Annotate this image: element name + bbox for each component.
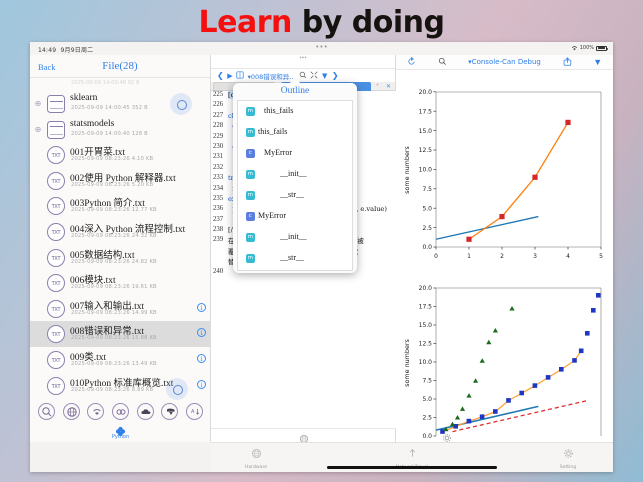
svg-text:20.0: 20.0 [419, 89, 433, 96]
svg-text:3: 3 [533, 253, 537, 260]
files-toolbar[interactable]: A [30, 398, 211, 424]
search-icon[interactable] [438, 53, 447, 71]
svg-text:10.0: 10.0 [419, 359, 433, 366]
cloud-icon[interactable] [137, 403, 154, 420]
txt-file-icon: TXT [47, 172, 65, 190]
outline-item-label: __str__ [280, 253, 304, 262]
home-indicator [327, 466, 497, 469]
txt-file-icon: TXT [47, 274, 65, 292]
txt-file-icon: TXT [47, 300, 65, 318]
svg-text:0: 0 [434, 253, 438, 260]
outline-item-label: __init__ [280, 169, 307, 178]
line-number: 229 [213, 133, 226, 140]
file-info-button[interactable]: i [197, 354, 206, 363]
globe-icon [251, 448, 262, 459]
chart-bottom-svg: 0.02.55.0 7.510.012.5 15.017.520.0 some … [396, 268, 613, 442]
file-row[interactable]: TXT007输入和输出.txt2025-09-09 08:23:26 14.99… [30, 296, 211, 322]
outline-method-icon: m [246, 170, 255, 179]
chart-top-svg: 0.02.55.0 7.510.012.5 15.017.520.0 [396, 70, 613, 268]
outline-item[interactable]: m__init__ [238, 164, 352, 185]
svg-text:5.0: 5.0 [422, 205, 432, 212]
battery-icon [596, 46, 607, 51]
svg-text:7.5: 7.5 [422, 186, 432, 193]
outline-popover[interactable]: Outline mthis_failsmthis_failscMyErrorm_… [233, 83, 357, 273]
svg-text:5: 5 [599, 253, 603, 260]
file-meta: 2025-09-09 08:23:26 15.88 KB [71, 335, 157, 341]
svg-text:12.5: 12.5 [419, 147, 433, 154]
svg-text:2: 2 [500, 253, 504, 260]
file-row[interactable]: ⊕statsmodels2025-09-09 14:00:40 128 B [30, 117, 211, 143]
outline-item-label: __str__ [280, 190, 304, 199]
plots-navbar[interactable]: ▾Console-Can Debug ▼ [396, 55, 613, 70]
svg-text:17.5: 17.5 [419, 304, 433, 311]
svg-text:A: A [191, 409, 195, 415]
play-icon[interactable]: ▶ [227, 72, 232, 80]
outline-list[interactable]: mthis_failsmthis_failscMyErrorm__init__m… [237, 100, 353, 271]
svg-text:10.0: 10.0 [419, 167, 433, 174]
svg-text:2.5: 2.5 [422, 225, 432, 232]
svg-text:2.5: 2.5 [422, 415, 432, 422]
line-number: 240 [213, 268, 226, 275]
line-number: 230 [213, 143, 226, 150]
tab-setting[interactable]: Setting [523, 446, 613, 470]
svg-text:15.0: 15.0 [419, 128, 433, 135]
svg-text:5.0: 5.0 [422, 396, 432, 403]
line-number: 234 [213, 185, 226, 192]
txt-file-icon: TXT [47, 377, 65, 395]
file-meta: 2025-09-09 08:23:26 24.32 KB [71, 233, 157, 239]
files-title: File(28) [30, 60, 210, 72]
outline-item-label: __init__ [280, 232, 307, 241]
touch-indicator-bottom [166, 378, 188, 400]
status-bar: 14:49 9月9日周二 ••• 100% [30, 42, 613, 55]
wifi-icon [571, 45, 578, 51]
file-name: statsmodels [70, 119, 114, 129]
svg-text:12.5: 12.5 [419, 341, 433, 348]
txt-file-icon: TXT [47, 146, 65, 164]
outline-item-label: this_fails [264, 106, 293, 115]
code-topbar: ••• [211, 55, 395, 69]
filter-icon[interactable]: ▼ [322, 72, 327, 80]
chart-top: 0.02.55.0 7.510.012.5 15.017.520.0 [396, 70, 613, 268]
outline-item[interactable]: mthis_fails [238, 122, 352, 143]
share-icon[interactable] [563, 53, 572, 71]
file-meta: 2025-09-09 08:23:26 13.49 KB [71, 361, 157, 367]
file-list[interactable]: ⊕sklearn2025-09-09 14:00:45 352 B⊕statsm… [30, 91, 211, 398]
svg-text:17.5: 17.5 [419, 108, 433, 115]
download-icon[interactable] [161, 403, 178, 420]
tab-hardware[interactable]: Hardware [211, 446, 301, 470]
chart-top-ylabel: some numbers [403, 145, 411, 193]
refresh-icon[interactable] [407, 53, 416, 71]
outline-item[interactable]: m__init__ [238, 227, 352, 248]
line-number: 225 [213, 91, 226, 98]
line-number: 237 [213, 216, 226, 223]
outline-method-icon: m [246, 128, 255, 137]
chevron-right-icon[interactable]: ❯ [332, 71, 339, 80]
line-number: 238 [213, 226, 226, 233]
outline-item[interactable]: cMyError [238, 206, 352, 227]
code-panel: ••• ❮ ▶ ▾008错误和异... ▼ ❯ + ✕ 225[demo]Cop… [211, 55, 396, 442]
status-dots: ••• [315, 43, 327, 51]
outline-method-icon: m [246, 233, 255, 242]
add-tab-button[interactable]: + [376, 83, 379, 89]
line-number: 236 [213, 205, 226, 212]
outline-item[interactable]: m__str__ [238, 185, 352, 206]
outline-item[interactable]: cMyError [238, 143, 352, 164]
touch-indicator-top [170, 93, 192, 115]
outline-item-label: MyError [258, 211, 286, 220]
file-meta: 2025-09-09 08:23:26 24.82 KB [71, 259, 157, 265]
chevron-left-icon[interactable]: ❮ [217, 71, 224, 80]
outline-arrow [289, 77, 301, 84]
line-number: 227 [213, 112, 226, 119]
file-row[interactable]: TXT008错误和异常.txt2025-09-09 08:23:26 15.88… [30, 321, 211, 347]
svg-text:15.0: 15.0 [419, 322, 433, 329]
line-number: 235 [213, 195, 226, 202]
file-row[interactable]: TXT009类.txt2025-09-09 08:23:26 13.49 KBi [30, 347, 211, 373]
code-controls[interactable]: ❮ ▶ ▾008错误和异... ▼ ❯ [211, 69, 395, 82]
file-info-button[interactable]: i [197, 303, 206, 312]
tab-setting-label: Setting [523, 465, 613, 470]
plots-footer [396, 429, 613, 442]
outline-class-icon: c [246, 212, 255, 221]
file-meta: 2025-09-09 08:23:26 4.10 KB [71, 156, 153, 162]
txt-file-icon: TXT [47, 325, 65, 343]
svg-text:7.5: 7.5 [422, 378, 432, 385]
line-number: 232 [213, 164, 226, 171]
code-footer [211, 428, 396, 442]
python-tab-label: Python [30, 434, 211, 440]
plots-panel: ▾Console-Can Debug ▼ 0.02.55.0 7.510.012… [396, 55, 613, 442]
outline-title: Outline [233, 83, 357, 100]
outline-method-icon: m [246, 107, 255, 116]
file-row[interactable]: TXT005数据结构.txt2025-09-09 08:23:26 24.82 … [30, 245, 211, 271]
search-icon[interactable] [38, 403, 55, 420]
svg-text:0.0: 0.0 [422, 244, 432, 251]
file-meta: 2025-09-09 08:23:26 8.89 KB [71, 387, 153, 393]
line-number: 228 [213, 122, 226, 129]
status-time-date: 14:49 9月9日周二 [38, 45, 93, 54]
app-tabbar[interactable]: Hardware NetworkTravel Setting [211, 442, 613, 472]
expand-icon[interactable] [310, 71, 318, 81]
svg-text:20.0: 20.0 [419, 285, 433, 292]
chart-bottom: 0.02.55.0 7.510.012.5 15.017.520.0 some … [396, 268, 613, 442]
file-row[interactable]: TXT003Python 简介.txt2025-09-09 08:23:26 1… [30, 193, 211, 219]
outline-item[interactable]: m__str__ [238, 248, 352, 269]
txt-file-icon: TXT [47, 249, 65, 267]
file-meta: 2025-09-09 08:23:26 12.77 KB [71, 207, 157, 213]
link-icon[interactable] [112, 403, 129, 420]
chart-bottom-ylabel: some numbers [403, 338, 411, 386]
file-row[interactable]: TXT004深入 Python 流程控制.txt2025-09-09 08:23… [30, 219, 211, 245]
file-row[interactable]: TXT006模块.txt2025-09-09 08:23:26 19.61 KB [30, 270, 211, 296]
expand-icon[interactable]: ⊕ [34, 100, 42, 108]
file-meta: 2025-09-09 14:00:45 352 B [71, 105, 148, 111]
globe-icon[interactable] [63, 403, 80, 420]
file-info-button[interactable]: i [197, 380, 206, 389]
gear-icon [563, 448, 574, 459]
upload-icon [407, 448, 418, 459]
sort-icon[interactable]: A [186, 403, 203, 420]
wifi-icon[interactable] [87, 403, 104, 420]
banner-word-bydoing: by doing [292, 5, 445, 40]
console-selector[interactable]: ▾Console-Can Debug [468, 58, 541, 66]
txt-file-icon: TXT [47, 197, 65, 215]
line-number: 231 [213, 153, 226, 160]
txt-file-icon: TXT [47, 351, 65, 369]
outline-item[interactable]: mthis_fails [238, 101, 352, 122]
file-row[interactable]: TXT001开胃菜.txt2025-09-09 08:23:26 4.10 KB [30, 142, 211, 168]
book-icon[interactable] [236, 71, 244, 81]
files-panel: Back File(28) 2025-09-09 14:00:48 92 B ⊕… [30, 55, 211, 442]
line-number: 239 [213, 236, 226, 243]
txt-file-icon: TXT [47, 223, 65, 241]
code-dots: ••• [299, 54, 306, 62]
folder-icon [47, 121, 65, 139]
file-row-partial-meta: 2025-09-09 14:00:48 92 B [71, 80, 140, 87]
svg-text:1: 1 [467, 253, 471, 260]
tab-hardware-label: Hardware [211, 465, 301, 470]
files-navbar: Back File(28) [30, 55, 210, 78]
file-info-button[interactable]: i [197, 328, 206, 337]
filter-icon[interactable]: ▼ [593, 57, 602, 67]
folder-icon [47, 95, 65, 113]
page-banner: Learn by doing [0, 2, 643, 44]
python-tab[interactable]: Python [30, 424, 211, 442]
close-tab-button[interactable]: ✕ [386, 83, 391, 90]
device-screen: 14:49 9月9日周二 ••• 100% Back File(28) 2025… [30, 42, 613, 472]
svg-text:4: 4 [566, 253, 570, 260]
line-number: 233 [213, 174, 226, 181]
outline-item-label: this_fails [258, 127, 287, 136]
outline-item-label: MyError [264, 148, 292, 157]
file-meta: 2025-09-09 08:23:26 5.20 KB [71, 182, 153, 188]
file-name: sklearn [70, 93, 97, 103]
expand-icon[interactable]: ⊕ [34, 126, 42, 134]
banner-word-learn: Learn [199, 5, 292, 40]
file-meta: 2025-09-09 14:00:40 128 B [71, 131, 148, 137]
file-meta: 2025-09-09 08:23:26 14.99 KB [71, 310, 157, 316]
line-number: 226 [213, 101, 226, 108]
file-meta: 2025-09-09 08:23:26 19.61 KB [71, 284, 157, 290]
status-right: 100% [571, 45, 607, 51]
outline-class-icon: c [246, 149, 255, 158]
outline-method-icon: m [246, 191, 255, 200]
outline-method-icon: m [246, 254, 255, 263]
battery-percent: 100% [580, 45, 594, 51]
file-row[interactable]: TXT002使用 Python 解释器.txt2025-09-09 08:23:… [30, 168, 211, 194]
